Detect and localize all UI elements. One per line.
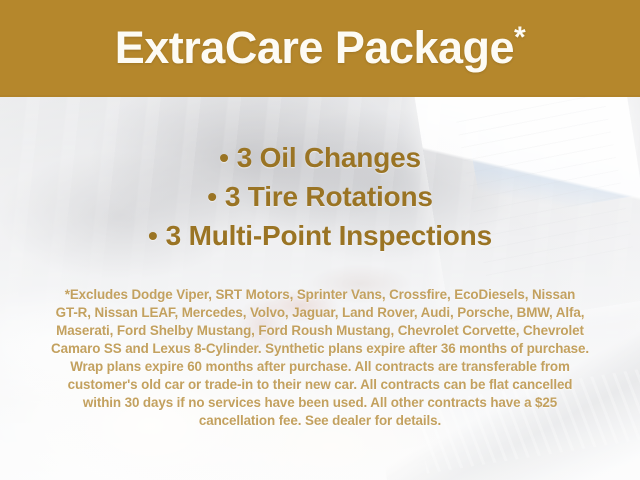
list-item: •3 Multi-Point Inspections: [0, 216, 640, 255]
page-title-text: ExtraCare Package: [115, 22, 514, 73]
disclaimer-line: Camaro SS and Lexus 8-Cylinder. Syntheti…: [28, 340, 612, 358]
list-item-label: 3 Tire Rotations: [225, 181, 433, 212]
list-item: •3 Tire Rotations: [0, 177, 640, 216]
disclaimer-line: GT-R, Nissan LEAF, Mercedes, Volvo, Jagu…: [28, 304, 612, 322]
page-title-asterisk: *: [514, 21, 525, 54]
bullet-dot-icon: •: [207, 181, 217, 212]
list-item-label: 3 Multi-Point Inspections: [166, 220, 492, 251]
page-title: ExtraCare Package*: [115, 25, 525, 70]
header-banner: ExtraCare Package*: [0, 0, 640, 97]
bullet-dot-icon: •: [148, 220, 158, 251]
disclaimer-line: Maserati, Ford Shelby Mustang, Ford Rous…: [28, 322, 612, 340]
disclaimer-line: within 30 days if no services have been …: [28, 394, 612, 412]
benefits-list: •3 Oil Changes •3 Tire Rotations •3 Mult…: [0, 138, 640, 255]
disclaimer-line: customer's old car or trade-in to their …: [28, 376, 612, 394]
list-item-label: 3 Oil Changes: [237, 142, 421, 173]
extracare-package-ad: ExtraCare Package* •3 Oil Changes •3 Tir…: [0, 0, 640, 480]
disclaimer-line: *Excludes Dodge Viper, SRT Motors, Sprin…: [28, 286, 612, 304]
disclaimer-text: *Excludes Dodge Viper, SRT Motors, Sprin…: [28, 286, 612, 430]
disclaimer-line: cancellation fee. See dealer for details…: [28, 412, 612, 430]
disclaimer-line: Wrap plans expire 60 months after purcha…: [28, 358, 612, 376]
list-item: •3 Oil Changes: [0, 138, 640, 177]
bullet-dot-icon: •: [219, 142, 229, 173]
